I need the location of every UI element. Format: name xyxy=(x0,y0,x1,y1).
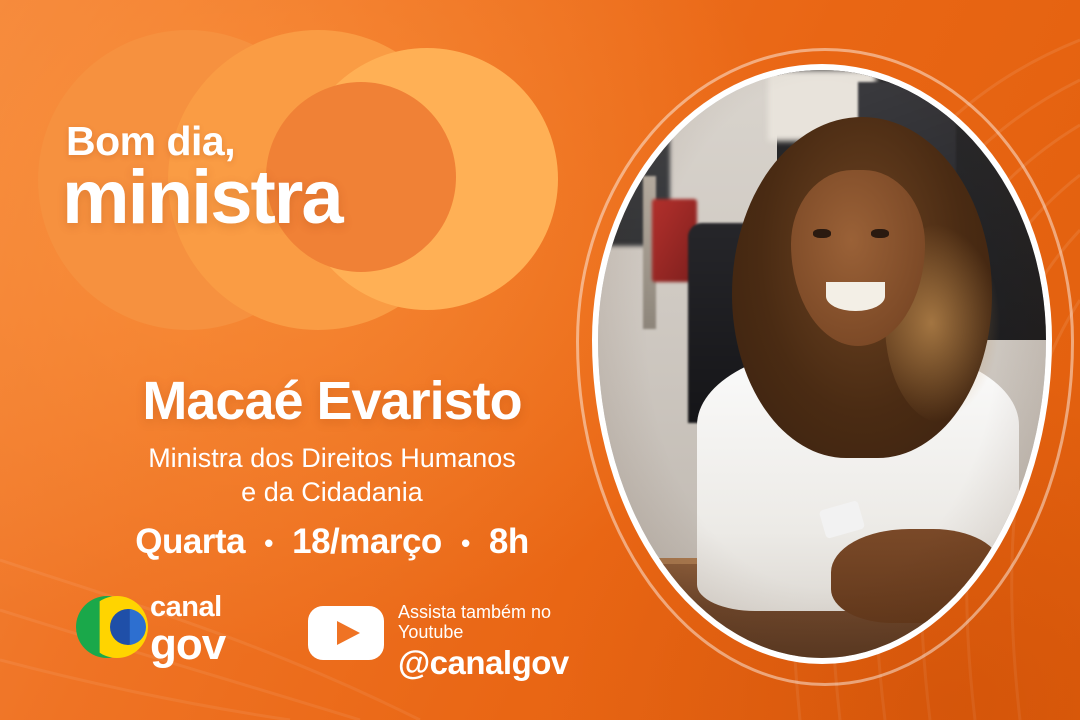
play-triangle-icon xyxy=(337,621,360,645)
schedule-separator-2: • xyxy=(461,528,470,559)
portrait-vignette xyxy=(598,70,1046,658)
schedule-separator-1: • xyxy=(264,528,273,559)
schedule-line: Quarta • 18/março • 8h xyxy=(52,522,612,562)
brazil-flag-circle-icon xyxy=(76,596,142,658)
canalgov-wordmark: canal gov xyxy=(150,594,225,665)
program-title: ministra xyxy=(62,160,342,236)
youtube-handle: @canalgov xyxy=(398,645,608,681)
portrait-frame xyxy=(592,64,1052,664)
canalgov-logo: canal gov xyxy=(76,594,336,664)
guest-role: Ministra dos Direitos Humanos e da Cidad… xyxy=(52,442,612,510)
guest-role-line2: e da Cidadania xyxy=(241,477,423,507)
youtube-caption: Assista também no Youtube xyxy=(398,600,608,643)
youtube-texts: Assista também no Youtube @canalgov xyxy=(398,600,608,681)
guest-role-line1: Ministra dos Direitos Humanos xyxy=(148,443,516,473)
promo-banner: Bom dia, ministra Macaé Evaristo Ministr… xyxy=(0,0,1080,720)
canalgov-word-gov: gov xyxy=(150,624,225,666)
schedule-date: 18/março xyxy=(292,522,442,561)
canalgov-word-canal: canal xyxy=(150,594,225,622)
guest-name: Macaé Evaristo xyxy=(52,370,612,432)
schedule-time: 8h xyxy=(489,522,529,561)
schedule-weekday: Quarta xyxy=(135,522,245,561)
guest-portrait xyxy=(592,64,1052,664)
youtube-play-icon[interactable] xyxy=(308,606,384,660)
youtube-block[interactable]: Assista também no Youtube @canalgov xyxy=(308,600,608,666)
